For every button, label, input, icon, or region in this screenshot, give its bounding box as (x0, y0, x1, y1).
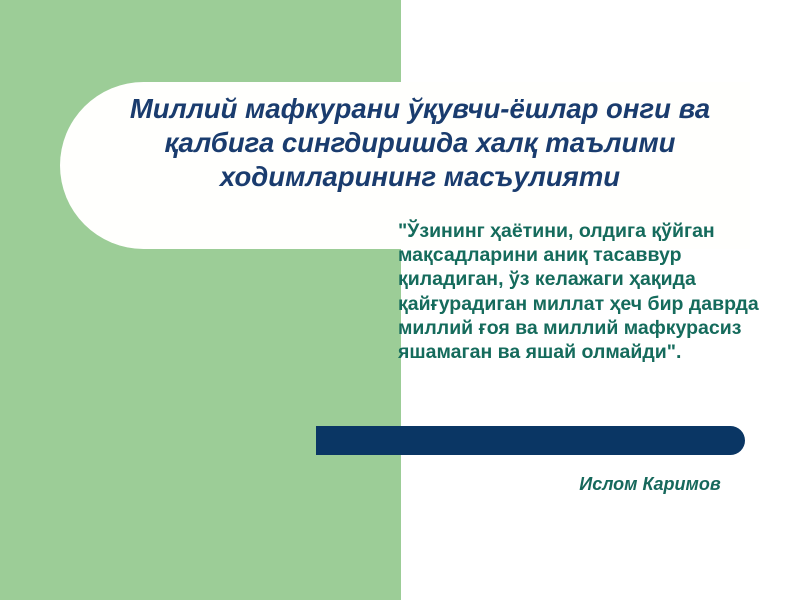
quote-body-text: "Ўзининг ҳаётини, олдига қўйган мақсадла… (398, 219, 780, 364)
slide-title: Миллий мафкурани ўқувчи-ёшлар онги ва қа… (96, 92, 744, 194)
navy-divider-bar (316, 426, 745, 455)
presentation-slide: Миллий мафкурани ўқувчи-ёшлар онги ва қа… (0, 0, 800, 600)
quote-attribution: Ислом Каримов (450, 473, 800, 495)
